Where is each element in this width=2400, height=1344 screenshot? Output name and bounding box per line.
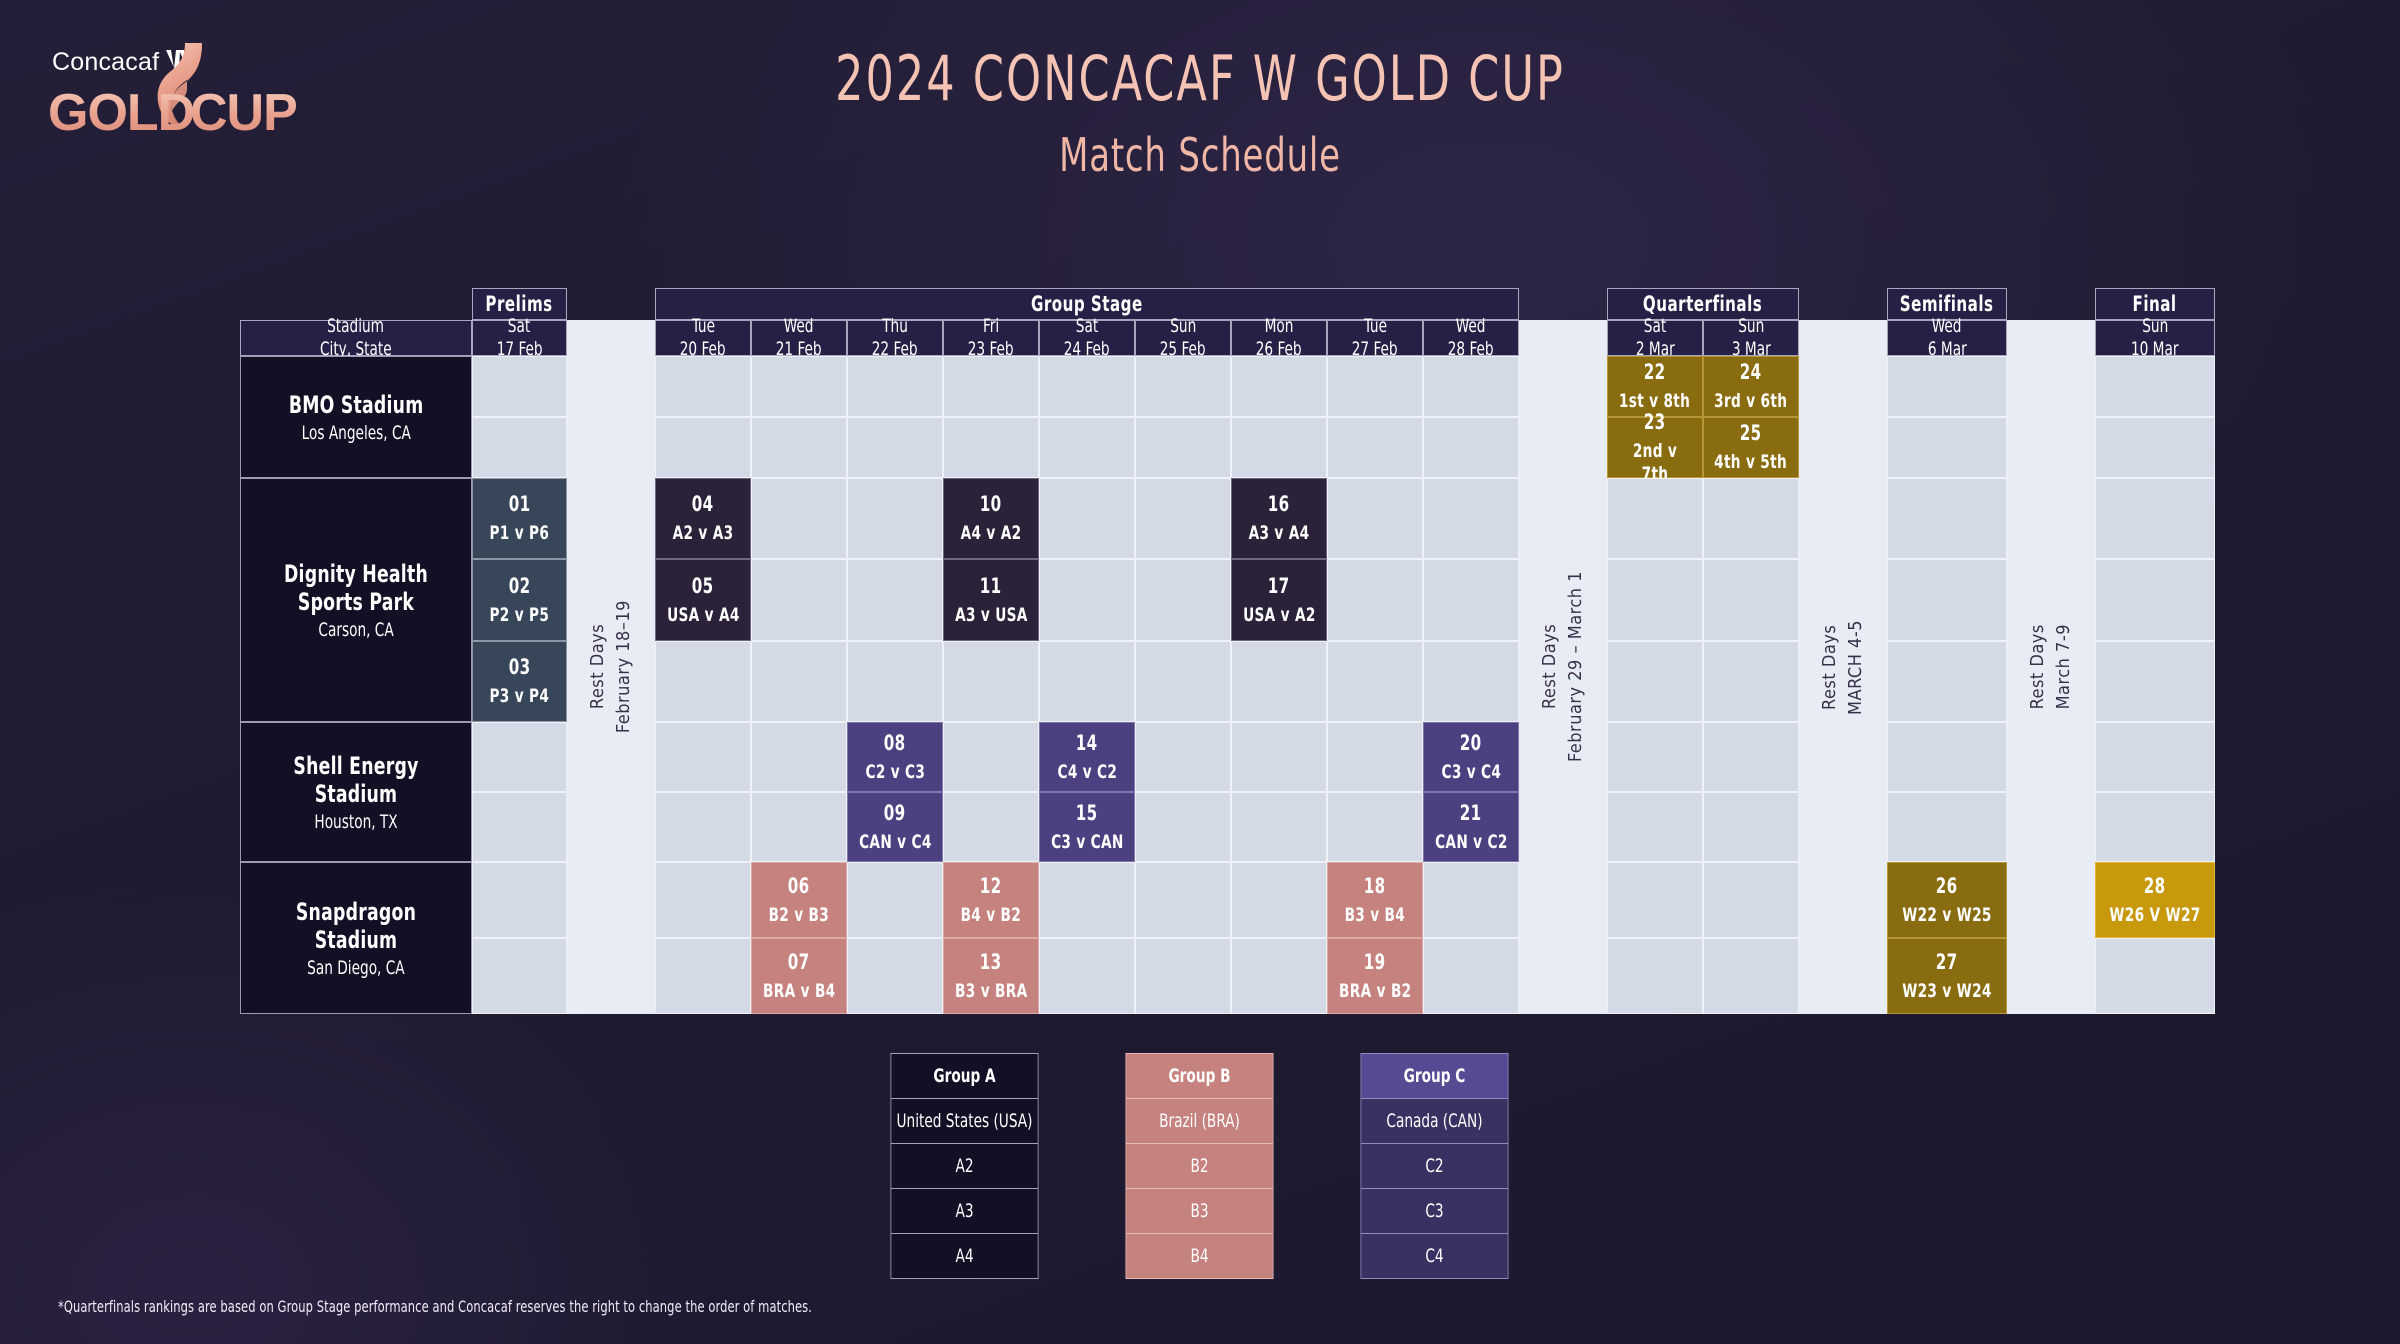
match-cell-17[interactable]: 17USA v A2 xyxy=(1231,559,1327,640)
match-number: 27 xyxy=(1936,950,1958,975)
empty-slot xyxy=(1703,792,1799,862)
empty-slot xyxy=(1135,641,1231,722)
empty-slot xyxy=(1423,559,1519,640)
empty-slot xyxy=(1327,478,1423,559)
empty-slot xyxy=(1703,722,1799,792)
date-header-dow: Tue xyxy=(1363,315,1386,338)
match-cell-18[interactable]: 18B3 v B4 xyxy=(1327,862,1423,938)
phase-header-label: Semifinals xyxy=(1900,292,1994,316)
empty-slot xyxy=(751,722,847,792)
date-header-d6mar: Wed6 Mar xyxy=(1887,320,2007,356)
match-teams: P2 v P5 xyxy=(490,604,550,627)
empty-slot xyxy=(1231,356,1327,417)
match-teams: 3rd v 6th xyxy=(1714,390,1787,413)
empty-slot xyxy=(2095,478,2215,559)
match-number: 07 xyxy=(788,950,810,975)
rest-days-line1: Rest Days xyxy=(2025,624,2051,709)
match-cell-23[interactable]: 232nd v 7th xyxy=(1607,417,1703,478)
empty-slot xyxy=(655,417,751,478)
match-teams: B3 v BRA xyxy=(955,980,1027,1003)
match-cell-12[interactable]: 12B4 v B2 xyxy=(943,862,1039,938)
match-cell-04[interactable]: 04A2 v A3 xyxy=(655,478,751,559)
date-header-d2mar: Sat2 Mar xyxy=(1607,320,1703,356)
group-header-C: Group C xyxy=(1361,1053,1509,1099)
empty-slot xyxy=(1135,722,1231,792)
empty-slot xyxy=(1423,938,1519,1014)
empty-slot xyxy=(1135,478,1231,559)
match-teams: A3 v A4 xyxy=(1249,522,1310,545)
rest-days-line2: March 7-9 xyxy=(2051,624,2077,709)
date-header-dow: Wed xyxy=(1932,315,1962,338)
empty-slot xyxy=(655,862,751,938)
match-number: 06 xyxy=(788,874,810,899)
venue-label-bmo: BMO StadiumLos Angeles, CA xyxy=(240,356,472,478)
empty-slot xyxy=(847,938,943,1014)
date-header-d20feb: Tue20 Feb xyxy=(655,320,751,356)
empty-slot xyxy=(847,559,943,640)
date-header-d27feb: Tue27 Feb xyxy=(1327,320,1423,356)
empty-slot xyxy=(1135,792,1231,862)
match-number: 25 xyxy=(1740,421,1762,446)
group-team-C-2: C2 xyxy=(1361,1143,1509,1189)
match-number: 02 xyxy=(509,574,531,599)
empty-slot xyxy=(847,641,943,722)
match-teams: C2 v C3 xyxy=(865,761,925,784)
match-number: 17 xyxy=(1268,574,1290,599)
date-header-d21feb: Wed21 Feb xyxy=(751,320,847,356)
match-cell-21[interactable]: 21CAN v C2 xyxy=(1423,792,1519,862)
empty-slot xyxy=(1135,356,1231,417)
match-cell-01[interactable]: 01P1 v P6 xyxy=(472,478,567,559)
empty-slot xyxy=(1607,641,1703,722)
empty-slot xyxy=(472,417,567,478)
empty-slot xyxy=(1231,938,1327,1014)
match-teams: W26 V W27 xyxy=(2109,904,2200,927)
empty-slot xyxy=(1135,938,1231,1014)
match-teams: P1 v P6 xyxy=(490,522,550,545)
rest-days-line2: February 18–19 xyxy=(611,600,637,733)
empty-slot xyxy=(2095,356,2215,417)
match-teams: USA v A2 xyxy=(1243,604,1316,627)
match-cell-07[interactable]: 07BRA v B4 xyxy=(751,938,847,1014)
empty-slot xyxy=(847,478,943,559)
group-box-A: Group AUnited States (USA)A2A3A4 xyxy=(872,1053,1057,1279)
date-header-dow: Tue xyxy=(691,315,714,338)
empty-slot xyxy=(1607,938,1703,1014)
group-team-C-4: C4 xyxy=(1361,1233,1509,1279)
empty-slot xyxy=(1135,862,1231,938)
venue-name: BMO Stadium xyxy=(289,391,424,419)
match-number: 01 xyxy=(509,492,531,517)
footnote: *Quarterfinals rankings are based on Gro… xyxy=(58,1297,812,1316)
match-cell-26[interactable]: 26W22 v W25 xyxy=(1887,862,2007,938)
rest-days-line1: Rest Days xyxy=(585,600,611,733)
match-number: 24 xyxy=(1740,360,1762,385)
rest-days-label: Rest DaysMarch 7-9 xyxy=(2025,624,2077,709)
match-number: 09 xyxy=(884,801,906,826)
date-header-dow: Wed xyxy=(1456,315,1486,338)
empty-slot xyxy=(1607,792,1703,862)
empty-slot xyxy=(472,862,567,938)
empty-slot xyxy=(1703,478,1799,559)
venue-city: Carson, CA xyxy=(318,619,393,641)
date-header-d17feb: Sat17 Feb xyxy=(472,320,567,356)
match-teams: A3 v USA xyxy=(955,604,1028,627)
empty-slot xyxy=(1887,722,2007,792)
empty-slot xyxy=(1039,478,1135,559)
date-header-dow: Sat xyxy=(1076,315,1098,338)
match-teams: B4 v B2 xyxy=(961,904,1022,927)
group-box-C: Group CCanada (CAN)C2C3C4 xyxy=(1342,1053,1527,1279)
empty-slot xyxy=(2095,641,2215,722)
rest-days-label: Rest DaysMARCH 4-5 xyxy=(1817,620,1869,715)
match-teams: P3 v P4 xyxy=(490,685,550,708)
group-header-B: Group B xyxy=(1126,1053,1274,1099)
venue-name: Dignity Health Sports Park xyxy=(264,560,448,616)
empty-slot xyxy=(1703,641,1799,722)
group-team-A-4: A4 xyxy=(891,1233,1039,1279)
empty-slot xyxy=(655,938,751,1014)
empty-slot xyxy=(1887,417,2007,478)
empty-slot xyxy=(1039,356,1135,417)
date-header-dow: Thu xyxy=(882,315,908,338)
match-cell-27[interactable]: 27W23 v W24 xyxy=(1887,938,2007,1014)
date-header-d23feb: Fri23 Feb xyxy=(943,320,1039,356)
match-teams: W23 v W24 xyxy=(1902,980,1992,1003)
match-cell-05[interactable]: 05USA v A4 xyxy=(655,559,751,640)
empty-slot xyxy=(1231,417,1327,478)
rest-days-rest1: Rest DaysFebruary 18–19 xyxy=(567,320,655,1014)
venue-city: San Diego, CA xyxy=(307,957,404,979)
empty-slot xyxy=(1423,862,1519,938)
match-number: 15 xyxy=(1076,801,1098,826)
empty-slot xyxy=(472,938,567,1014)
date-header-dow: Wed xyxy=(784,315,814,338)
match-teams: BRA v B2 xyxy=(1339,980,1411,1003)
empty-slot xyxy=(655,792,751,862)
match-teams: 4th v 5th xyxy=(1715,451,1788,474)
match-cell-10[interactable]: 10A4 v A2 xyxy=(943,478,1039,559)
empty-slot xyxy=(1423,417,1519,478)
empty-slot xyxy=(472,722,567,792)
rest-days-line2: MARCH 4-5 xyxy=(1843,620,1869,715)
group-header-A: Group A xyxy=(891,1053,1039,1099)
match-number: 13 xyxy=(980,950,1002,975)
date-header-dow: Fri xyxy=(983,315,999,338)
empty-slot xyxy=(943,641,1039,722)
empty-slot xyxy=(1327,356,1423,417)
match-cell-28[interactable]: 28W26 V W27 xyxy=(2095,862,2215,938)
match-number: 26 xyxy=(1936,874,1958,899)
empty-slot xyxy=(1887,792,2007,862)
match-teams: B3 v B4 xyxy=(1345,904,1406,927)
date-header-dow: Sat xyxy=(1644,315,1666,338)
empty-slot xyxy=(1607,862,1703,938)
match-number: 21 xyxy=(1460,801,1482,826)
match-cell-06[interactable]: 06B2 v B3 xyxy=(751,862,847,938)
empty-slot xyxy=(2095,559,2215,640)
date-header-d24feb: Sat24 Feb xyxy=(1039,320,1135,356)
empty-slot xyxy=(1703,559,1799,640)
empty-slot xyxy=(751,417,847,478)
match-teams: CAN v C4 xyxy=(859,831,932,854)
date-header-d3mar: Sun3 Mar xyxy=(1703,320,1799,356)
match-cell-25[interactable]: 254th v 5th xyxy=(1703,417,1799,478)
group-team-C-1: Canada (CAN) xyxy=(1361,1098,1509,1144)
empty-slot xyxy=(1327,417,1423,478)
match-teams: C3 v CAN xyxy=(1051,831,1124,854)
rest-days-line2: February 29 – March 1 xyxy=(1563,571,1589,762)
match-teams: W22 v W25 xyxy=(1902,904,1992,927)
group-team-A-1: United States (USA) xyxy=(891,1098,1039,1144)
match-number: 23 xyxy=(1644,410,1666,435)
match-number: 22 xyxy=(1644,360,1666,385)
empty-slot xyxy=(1607,559,1703,640)
match-number: 11 xyxy=(980,574,1002,599)
venue-label-dignity: Dignity Health Sports ParkCarson, CA xyxy=(240,478,472,722)
venue-name: Shell Energy Stadium xyxy=(264,752,448,808)
date-header-d26feb: Mon26 Feb xyxy=(1231,320,1327,356)
match-teams: A2 v A3 xyxy=(673,522,734,545)
empty-slot xyxy=(1231,722,1327,792)
match-number: 28 xyxy=(2144,874,2166,899)
empty-slot xyxy=(1039,862,1135,938)
empty-slot xyxy=(1327,559,1423,640)
match-teams: C4 v C2 xyxy=(1057,761,1117,784)
rest-days-label: Rest DaysFebruary 29 – March 1 xyxy=(1537,571,1589,762)
empty-slot xyxy=(1887,641,2007,722)
match-number: 04 xyxy=(692,492,714,517)
venue-city: Los Angeles, CA xyxy=(301,422,410,444)
match-number: 10 xyxy=(980,492,1002,517)
group-team-A-3: A3 xyxy=(891,1188,1039,1234)
group-team-B-2: B2 xyxy=(1126,1143,1274,1189)
phase-header-label: Prelims xyxy=(486,292,553,316)
match-teams: BRA v B4 xyxy=(763,980,835,1003)
empty-slot xyxy=(1607,478,1703,559)
empty-slot xyxy=(2095,792,2215,862)
match-number: 19 xyxy=(1364,950,1386,975)
match-cell-14[interactable]: 14C4 v C2 xyxy=(1039,722,1135,792)
empty-slot xyxy=(943,417,1039,478)
phase-header-label: Group Stage xyxy=(1031,292,1143,316)
date-header-dow: Sun xyxy=(1738,315,1764,338)
empty-slot xyxy=(1423,641,1519,722)
match-number: 14 xyxy=(1076,731,1098,756)
match-number: 20 xyxy=(1460,731,1482,756)
empty-slot xyxy=(1327,641,1423,722)
empty-slot xyxy=(847,417,943,478)
empty-slot xyxy=(1887,478,2007,559)
match-cell-16[interactable]: 16A3 v A4 xyxy=(1231,478,1327,559)
group-box-B: Group BBrazil (BRA)B2B3B4 xyxy=(1107,1053,1292,1279)
rest-days-line1: Rest Days xyxy=(1817,620,1843,715)
empty-slot xyxy=(1231,792,1327,862)
empty-slot xyxy=(1423,478,1519,559)
empty-slot xyxy=(655,641,751,722)
rest-days-line1: Rest Days xyxy=(1537,571,1563,762)
empty-slot xyxy=(1135,559,1231,640)
match-cell-02[interactable]: 02P2 v P5 xyxy=(472,559,567,640)
empty-slot xyxy=(847,356,943,417)
empty-slot xyxy=(943,792,1039,862)
empty-slot xyxy=(943,356,1039,417)
phase-header-label: Quarterfinals xyxy=(1643,292,1762,316)
group-team-B-4: B4 xyxy=(1126,1233,1274,1279)
venue-city: Houston, TX xyxy=(314,811,397,833)
empty-slot xyxy=(1423,356,1519,417)
phase-header-label: Final xyxy=(2133,292,2177,316)
empty-slot xyxy=(1703,862,1799,938)
rest-days-rest4: Rest DaysMarch 7-9 xyxy=(2007,320,2095,1014)
match-number: 03 xyxy=(509,655,531,680)
match-number: 08 xyxy=(884,731,906,756)
match-cell-11[interactable]: 11A3 v USA xyxy=(943,559,1039,640)
empty-slot xyxy=(472,356,567,417)
empty-slot xyxy=(1327,722,1423,792)
empty-slot xyxy=(1135,417,1231,478)
match-cell-09[interactable]: 09CAN v C4 xyxy=(847,792,943,862)
venue-label-shell: Shell Energy StadiumHouston, TX xyxy=(240,722,472,862)
empty-slot xyxy=(1231,862,1327,938)
match-cell-08[interactable]: 08C2 v C3 xyxy=(847,722,943,792)
match-cell-24[interactable]: 243rd v 6th xyxy=(1703,356,1799,417)
match-number: 18 xyxy=(1364,874,1386,899)
rest-days-label: Rest DaysFebruary 18–19 xyxy=(585,600,637,733)
rest-days-rest2: Rest DaysFebruary 29 – March 1 xyxy=(1519,320,1607,1014)
match-number: 12 xyxy=(980,874,1002,899)
empty-slot xyxy=(655,722,751,792)
empty-slot xyxy=(751,356,847,417)
match-number: 05 xyxy=(692,574,714,599)
empty-slot xyxy=(2095,722,2215,792)
date-header-d28feb: Wed28 Feb xyxy=(1423,320,1519,356)
venue-label-snapdragon: Snapdragon StadiumSan Diego, CA xyxy=(240,862,472,1014)
empty-slot xyxy=(751,478,847,559)
empty-slot xyxy=(751,792,847,862)
empty-slot xyxy=(1039,417,1135,478)
match-cell-20[interactable]: 20C3 v C4 xyxy=(1423,722,1519,792)
match-number: 16 xyxy=(1268,492,1290,517)
phase-header-quarterfinals: Quarterfinals xyxy=(1607,288,1799,320)
date-header-dow: Mon xyxy=(1265,315,1294,338)
empty-slot xyxy=(1039,938,1135,1014)
corner-header-line1: Stadium xyxy=(328,315,385,338)
group-team-C-3: C3 xyxy=(1361,1188,1509,1234)
date-header-dow: Sun xyxy=(1170,315,1196,338)
match-teams: A4 v A2 xyxy=(961,522,1022,545)
match-teams: CAN v C2 xyxy=(1435,831,1508,854)
empty-slot xyxy=(751,559,847,640)
match-cell-03[interactable]: 03P3 v P4 xyxy=(472,641,567,722)
empty-slot xyxy=(2095,938,2215,1014)
empty-slot xyxy=(1327,792,1423,862)
empty-slot xyxy=(847,862,943,938)
match-cell-15[interactable]: 15C3 v CAN xyxy=(1039,792,1135,862)
date-header-d10mar: Sun10 Mar xyxy=(2095,320,2215,356)
empty-slot xyxy=(1703,938,1799,1014)
empty-slot xyxy=(1887,559,2007,640)
group-team-B-1: Brazil (BRA) xyxy=(1126,1098,1274,1144)
match-teams: B2 v B3 xyxy=(769,904,830,927)
venue-name: Snapdragon Stadium xyxy=(264,898,448,954)
match-teams: USA v A4 xyxy=(667,604,740,627)
group-team-B-3: B3 xyxy=(1126,1188,1274,1234)
empty-slot xyxy=(1607,722,1703,792)
empty-slot xyxy=(943,722,1039,792)
date-header-dow: Sun xyxy=(2142,315,2168,338)
empty-slot xyxy=(751,641,847,722)
empty-slot xyxy=(1039,641,1135,722)
group-legend: Group AUnited States (USA)A2A3A4Group BB… xyxy=(0,1053,2400,1293)
corner-header: StadiumCity, State xyxy=(240,320,472,356)
match-cell-22[interactable]: 221st v 8th xyxy=(1607,356,1703,417)
match-cell-13[interactable]: 13B3 v BRA xyxy=(943,938,1039,1014)
date-header-d22feb: Thu22 Feb xyxy=(847,320,943,356)
match-teams: C3 v C4 xyxy=(1441,761,1501,784)
empty-slot xyxy=(1231,641,1327,722)
date-header-dow: Sat xyxy=(508,315,530,338)
empty-slot xyxy=(472,792,567,862)
date-header-d25feb: Sun25 Feb xyxy=(1135,320,1231,356)
rest-days-rest3: Rest DaysMARCH 4-5 xyxy=(1799,320,1887,1014)
empty-slot xyxy=(2095,417,2215,478)
empty-slot xyxy=(1887,356,2007,417)
empty-slot xyxy=(1039,559,1135,640)
empty-slot xyxy=(655,356,751,417)
match-cell-19[interactable]: 19BRA v B2 xyxy=(1327,938,1423,1014)
group-team-A-2: A2 xyxy=(891,1143,1039,1189)
